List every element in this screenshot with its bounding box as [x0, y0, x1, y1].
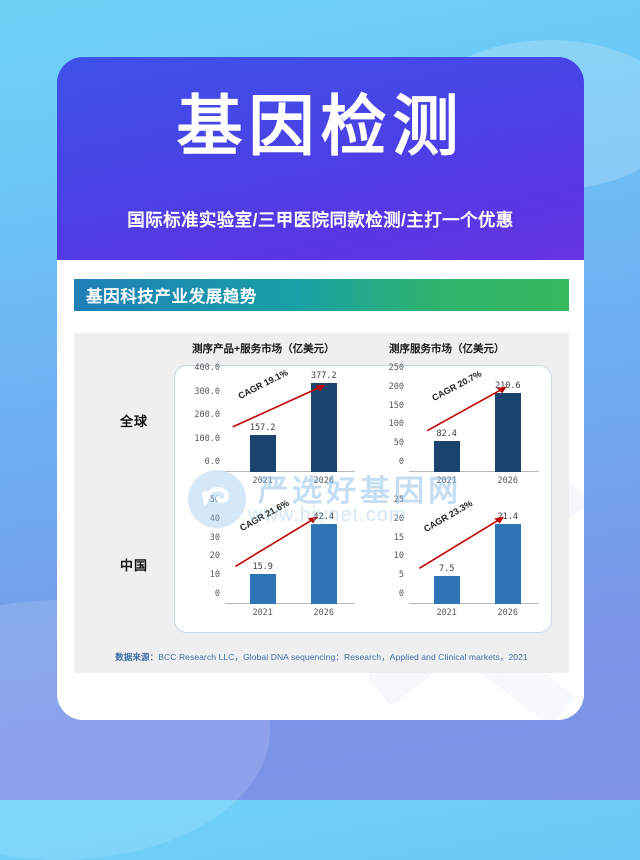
y-tick-1-5: 250 — [389, 363, 404, 373]
y-tick-3-1: 5 — [399, 570, 404, 580]
section-header-bar: 基因科技产业发展趋势 — [74, 279, 569, 311]
x-tick-2-0: 2021 — [252, 608, 272, 618]
content-card: 基因科技产业发展趋势 测序产品+服务市场（亿美元） 测序服务市场（亿美元） 全球… — [57, 260, 584, 720]
row-label-global: 全球 — [120, 411, 148, 430]
x-tick-0-0: 2021 — [252, 476, 272, 486]
y-tick-0-3: 300.0 — [194, 387, 220, 397]
chart-title-products-services: 测序产品+服务市场（亿美元） — [192, 341, 335, 356]
x-tick-1-0: 2021 — [436, 476, 456, 486]
y-tick-1-3: 150 — [389, 401, 404, 411]
chart-china-products-services: 0 10 20 30 40 50 15.9 42.4 2021 2026 — [181, 504, 363, 626]
plot-area-0: 0.0 100.0 200.0 300.0 400.0 157.2 377.2 … — [225, 378, 355, 472]
chart-column-titles: 测序产品+服务市场（亿美元） 测序服务市场（亿美元） — [74, 341, 569, 359]
chart-global-products-services: 0.0 100.0 200.0 300.0 400.0 157.2 377.2 … — [181, 372, 363, 494]
plot-area-1: 0 50 100 150 200 250 82.4 210.6 2021 202… — [409, 378, 539, 472]
x-tick-0-1: 2026 — [314, 476, 334, 486]
y-tick-2-5: 50 — [210, 495, 220, 505]
cagr-arrow-1 — [409, 378, 539, 472]
x-tick-2-1: 2026 — [314, 608, 334, 618]
y-tick-3-4: 20 — [394, 514, 404, 524]
data-source-prefix: 数据来源： — [115, 652, 158, 662]
data-source-text: BCC Research LLC，Global DNA sequencing：R… — [158, 652, 528, 662]
y-tick-0-0: 0.0 — [205, 457, 220, 467]
y-tick-3-2: 10 — [394, 551, 404, 561]
y-tick-0-2: 200.0 — [194, 410, 220, 420]
x-tick-3-0: 2021 — [436, 608, 456, 618]
y-tick-2-3: 30 — [210, 533, 220, 543]
y-tick-3-5: 25 — [394, 495, 404, 505]
y-tick-3-0: 0 — [399, 589, 404, 599]
y-tick-1-1: 50 — [394, 438, 404, 448]
y-tick-0-1: 100.0 — [194, 434, 220, 444]
charts-container: 0.0 100.0 200.0 300.0 400.0 157.2 377.2 … — [174, 365, 552, 633]
section-header-label: 基因科技产业发展趋势 — [86, 283, 257, 307]
plot-area-3: 0 5 10 15 20 25 7.5 21.4 2021 2026 — [409, 510, 539, 604]
plot-area-2: 0 10 20 30 40 50 15.9 42.4 2021 2026 — [225, 510, 355, 604]
y-tick-2-0: 0 — [215, 589, 220, 599]
x-tick-1-1: 2026 — [498, 476, 518, 486]
y-tick-1-4: 200 — [389, 382, 404, 392]
chart-china-services: 0 5 10 15 20 25 7.5 21.4 2021 2026 — [365, 504, 547, 626]
chart-title-services: 测序服务市场（亿美元） — [389, 341, 505, 356]
y-tick-2-2: 20 — [210, 551, 220, 561]
page-title: 基因检测 — [57, 93, 584, 159]
chart-panel: 测序产品+服务市场（亿美元） 测序服务市场（亿美元） 全球 中国 0.0 100… — [74, 333, 569, 673]
y-tick-3-3: 15 — [394, 533, 404, 543]
y-tick-1-2: 100 — [389, 419, 404, 429]
chart-global-services: 0 50 100 150 200 250 82.4 210.6 2021 202… — [365, 372, 547, 494]
data-source-note: 数据来源：BCC Research LLC，Global DNA sequenc… — [74, 651, 569, 663]
y-tick-1-0: 0 — [399, 457, 404, 467]
y-tick-0-4: 400.0 — [194, 363, 220, 373]
x-tick-3-1: 2026 — [498, 608, 518, 618]
hero-subtitle: 国际标准实验室/三甲医院同款检测/主打一个优惠 — [57, 207, 584, 232]
row-label-china: 中国 — [120, 555, 148, 574]
hero-banner: 基因检测 国际标准实验室/三甲医院同款检测/主打一个优惠 — [57, 57, 584, 272]
y-tick-2-1: 10 — [210, 570, 220, 580]
y-tick-2-4: 40 — [210, 514, 220, 524]
